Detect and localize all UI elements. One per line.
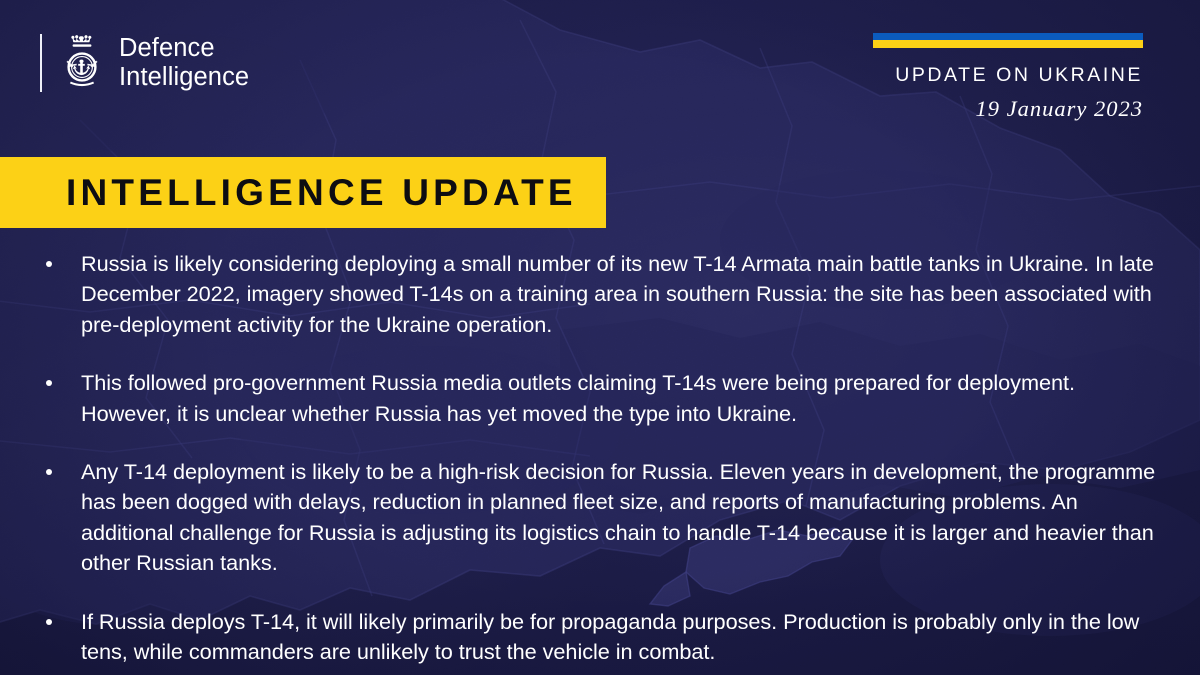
banner-label: INTELLIGENCE UPDATE xyxy=(66,172,577,214)
bullet-item: Any T-14 deployment is likely to be a hi… xyxy=(40,457,1158,579)
bullet-list: Russia is likely considering deploying a… xyxy=(40,249,1158,667)
branding-divider-icon xyxy=(40,34,42,92)
intelligence-update-graphic: Defence Intelligence UPDATE ON UKRAINE 1… xyxy=(0,0,1200,675)
department-name-line2: Intelligence xyxy=(119,63,249,92)
bullet-item: If Russia deploys T-14, it will likely p… xyxy=(40,607,1158,668)
bullet-text: Any T-14 deployment is likely to be a hi… xyxy=(81,459,1155,575)
ukraine-flag-icon xyxy=(873,33,1143,48)
mod-crest-icon xyxy=(59,34,105,92)
bullet-dot-icon xyxy=(46,619,52,625)
bullet-dot-icon xyxy=(46,380,52,386)
bullet-item: This followed pro-government Russia medi… xyxy=(40,368,1158,429)
flag-yellow-stripe xyxy=(873,40,1143,48)
flag-blue-stripe xyxy=(873,33,1143,40)
bullet-text: If Russia deploys T-14, it will likely p… xyxy=(81,609,1139,664)
update-date: 19 January 2023 xyxy=(873,96,1143,122)
intelligence-update-banner: INTELLIGENCE UPDATE xyxy=(0,157,606,228)
bullet-dot-icon xyxy=(46,261,52,267)
update-title: UPDATE ON UKRAINE xyxy=(873,64,1143,87)
defence-intelligence-branding: Defence Intelligence xyxy=(40,32,249,94)
bullet-text: Russia is likely considering deploying a… xyxy=(81,251,1154,337)
department-name: Defence Intelligence xyxy=(119,34,249,92)
bullet-dot-icon xyxy=(46,469,52,475)
bullet-text: This followed pro-government Russia medi… xyxy=(81,370,1075,425)
bullet-item: Russia is likely considering deploying a… xyxy=(40,249,1158,340)
department-name-line1: Defence xyxy=(119,34,249,63)
update-meta: UPDATE ON UKRAINE 19 January 2023 xyxy=(873,33,1143,122)
